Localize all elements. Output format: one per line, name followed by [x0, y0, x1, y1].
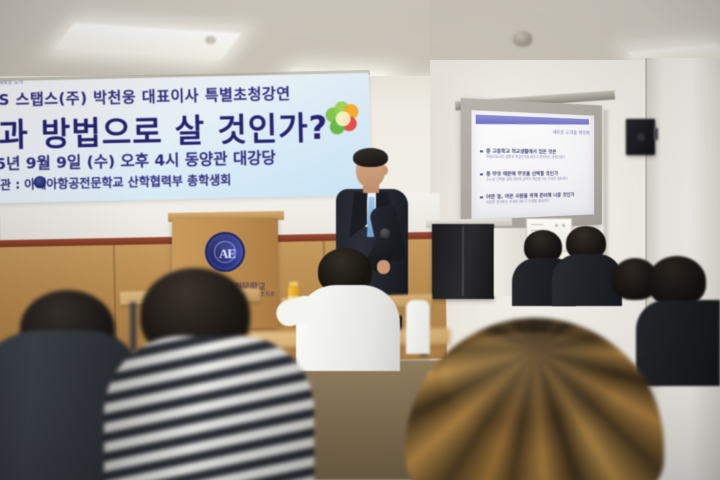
- emblem-letters: AE: [207, 246, 247, 262]
- presenter-ear: [382, 166, 388, 175]
- audience-member-partial: [406, 300, 430, 354]
- slide-header-band: [476, 115, 589, 128]
- flower-logo-icon: [325, 101, 360, 136]
- lecture-hall-photo: 새로운 도약 FFS 스탭스(주) 박천웅 대표이사 특별초청강연 음과 방법으…: [0, 0, 720, 480]
- slide-bullet-sub: 스스로 선택한 길에 대하여 끝까지 책임을 지는 자세가 필요하다: [486, 177, 568, 183]
- event-banner: 새로운 도약 FFS 스탭스(주) 박천웅 대표이사 특별초청강연 음과 방법으…: [0, 73, 371, 204]
- ceiling-fixture: [205, 36, 216, 44]
- slide-bullet: 어떤 일, 어떤 사람을 위해 준비해 나갈 것인가 미래를 준비하는 자세와 …: [480, 192, 575, 206]
- av-rack-seam: [462, 226, 464, 296]
- wall-mounted-speaker: [626, 119, 655, 155]
- school-emblem-icon: AE: [205, 232, 245, 272]
- presenter-hand: [377, 260, 390, 274]
- speaker-bracket: [654, 128, 658, 140]
- audience-member-right-head: [648, 256, 706, 306]
- slide-title: 새로운 도약을 위하여: [553, 130, 590, 137]
- audience-member-striped: [104, 336, 314, 480]
- hair-highlight: [440, 332, 620, 422]
- presentation-slide: 새로운 도약을 위하여 중 고등학교 학교생활에서 얻은 것은 학생으로서의 생…: [471, 110, 594, 220]
- slide-bullet-sub: 학생으로서의 생활과 책임의식을 배우고 준비하는 과정이었다: [486, 155, 565, 160]
- presenter-hair: [353, 148, 388, 167]
- slide-bullet: 중 고등학교 학교생활에서 얻은 것은 학생으로서의 생활과 책임의식을 배우고…: [480, 148, 565, 160]
- smoke-detector-icon: [513, 31, 532, 46]
- audience-member-right: [636, 300, 720, 386]
- projection-screen: 새로운 도약을 위하여 중 고등학교 학교생활에서 얻은 것은 학생으로서의 생…: [461, 98, 602, 232]
- slide-bullet: 중 무엇 때문에 무엇을 선택할 것인가 스스로 선택한 길에 대하여 끝까지 …: [480, 171, 568, 183]
